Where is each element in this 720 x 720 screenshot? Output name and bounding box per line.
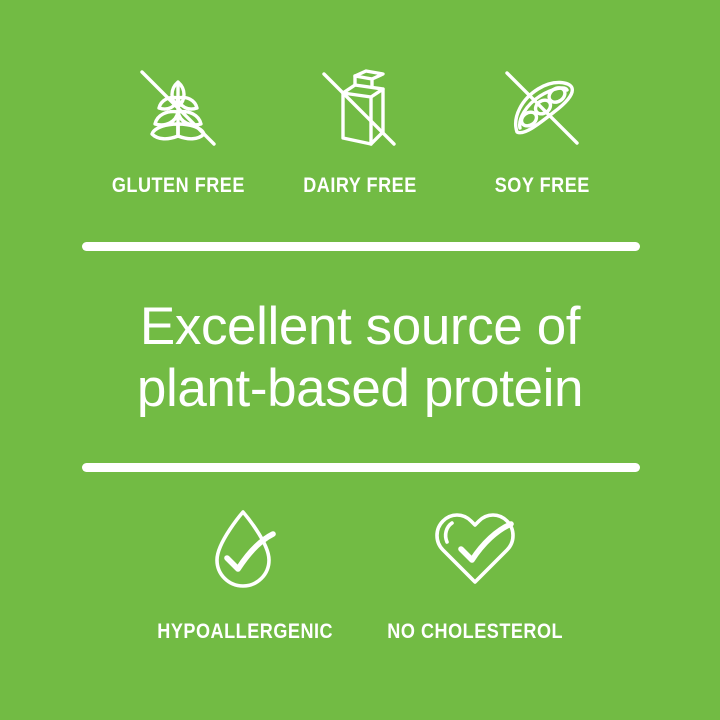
bottom-badge-row: HYPOALLERGENIC NO CHOLESTEROL <box>0 502 720 644</box>
badge-label: GLUTEN FREE <box>111 174 244 198</box>
page-title: Excellent source of plant-based protein <box>0 296 720 420</box>
badge-gluten-free: GLUTEN FREE <box>87 62 269 198</box>
heart-check-icon <box>427 502 523 598</box>
divider-upper <box>82 242 640 251</box>
water-drop-check-icon <box>197 502 293 598</box>
benefits-panel: GLUTEN FREE DAIRY FREE <box>0 0 720 720</box>
badge-label: SOY FREE <box>494 174 589 198</box>
badge-no-cholesterol: NO CHOLESTEROL <box>360 502 590 644</box>
badge-label: HYPOALLERGENIC <box>157 620 333 644</box>
badge-dairy-free: DAIRY FREE <box>269 62 451 198</box>
badge-label: NO CHOLESTEROL <box>387 620 563 644</box>
wheat-crossed-out-icon <box>132 62 224 154</box>
divider-lower <box>82 463 640 472</box>
badge-label: DAIRY FREE <box>303 174 417 198</box>
headline-line-1: Excellent source of <box>0 296 720 358</box>
soybean-pod-crossed-out-icon <box>496 62 588 154</box>
headline-line-2: plant-based protein <box>0 358 720 420</box>
badge-hypoallergenic: HYPOALLERGENIC <box>130 502 360 644</box>
milk-carton-crossed-out-icon <box>314 62 406 154</box>
top-badge-row: GLUTEN FREE DAIRY FREE <box>0 62 720 198</box>
badge-soy-free: SOY FREE <box>451 62 633 198</box>
